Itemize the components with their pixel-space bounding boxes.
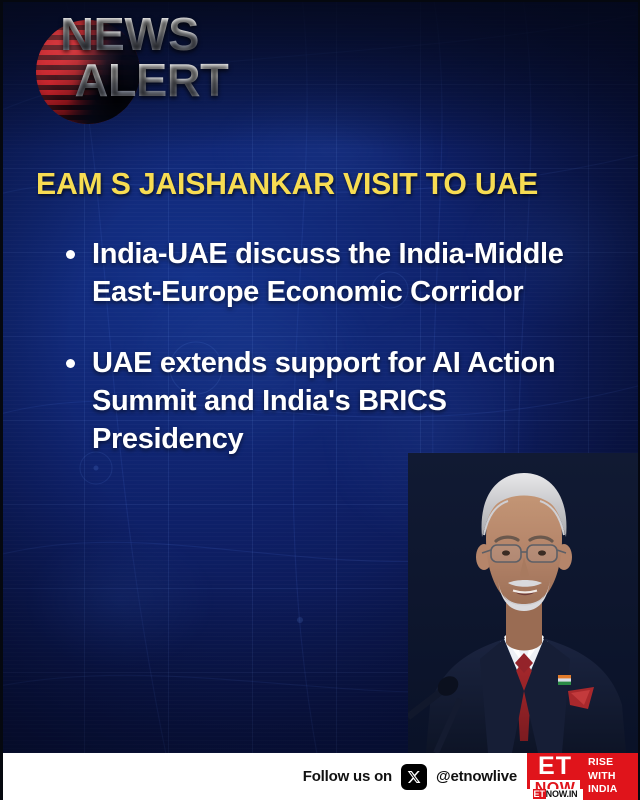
bullet-list: India-UAE discuss the India-Middle East-… [58, 236, 578, 458]
etnow-domain-rest: NOW.IN [546, 789, 578, 799]
news-alert-wordmark: NEWS ALERT [52, 12, 267, 102]
tagline-line-1: RISE [588, 756, 613, 769]
tagline-line-3: INDIA [588, 783, 618, 796]
news-alert-graphic: NEWS ALERT EAM S JAISHANKAR VISIT TO UAE… [0, 0, 640, 800]
list-item: UAE extends support for AI Action Summit… [58, 345, 578, 458]
etnow-domain: ETNOW.IN [527, 789, 583, 800]
tagline-block: RISE WITH INDIA [583, 753, 640, 800]
bullet-text: UAE extends support for AI Action Summit… [92, 347, 555, 454]
news-alert-line-1: NEWS [52, 12, 271, 56]
x-twitter-icon[interactable] [401, 764, 427, 790]
footer-bar: Follow us on @etnowlive ET NOW ETNOW.IN … [0, 753, 640, 800]
headline: EAM S JAISHANKAR VISIT TO UAE [36, 168, 602, 200]
bullet-dot-icon [66, 359, 75, 368]
bullet-dot-icon [66, 250, 75, 259]
tagline-line-2: WITH [588, 770, 616, 783]
social-handle[interactable]: @etnowlive [436, 768, 517, 785]
news-alert-badge: NEWS ALERT [24, 12, 264, 130]
bullet-text: India-UAE discuss the India-Middle East-… [92, 238, 564, 308]
news-alert-line-2: ALERT [52, 58, 271, 102]
etnow-domain-prefix: ET [533, 789, 546, 799]
portrait-photo [408, 453, 640, 753]
list-item: India-UAE discuss the India-Middle East-… [58, 236, 578, 311]
etnow-logo[interactable]: ET NOW ETNOW.IN [527, 753, 583, 800]
follow-us-group: Follow us on @etnowlive [303, 753, 527, 800]
etnow-logo-et: ET [538, 755, 572, 779]
follow-us-label: Follow us on [303, 768, 392, 785]
